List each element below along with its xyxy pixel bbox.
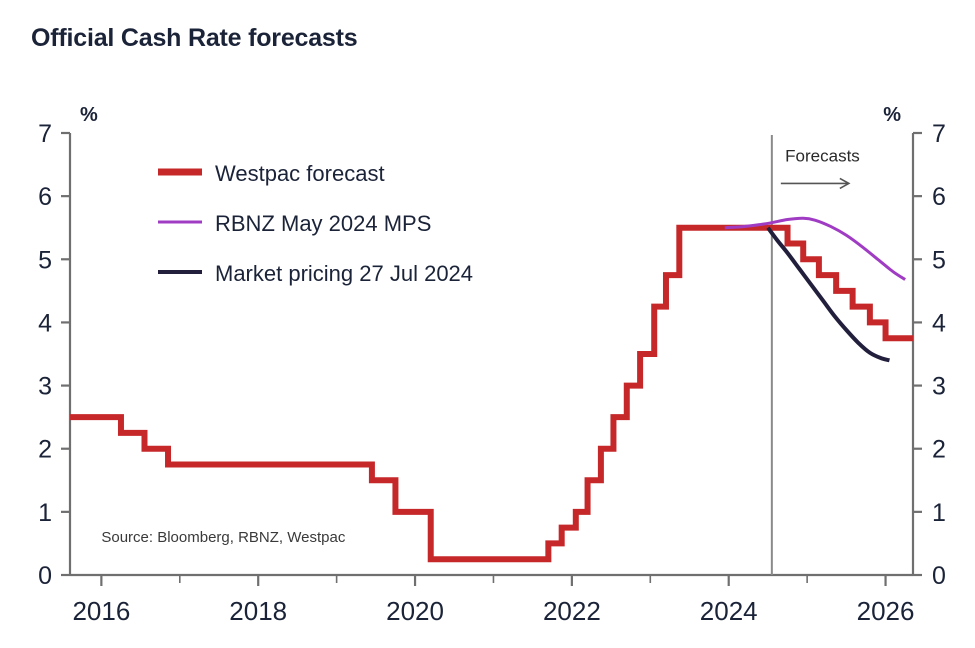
x-tick-label: 2020 <box>386 596 444 626</box>
y-unit-label-left: % <box>80 104 98 126</box>
y-tick-label-left: 6 <box>38 183 52 211</box>
y-tick-label-left: 2 <box>38 436 52 464</box>
series-line-westpac-forecast <box>70 228 913 560</box>
x-tick-label: 2016 <box>72 596 130 626</box>
series-line-market-pricing-27-jul-2024 <box>768 228 890 361</box>
forecast-label: Forecasts <box>785 146 860 165</box>
y-unit-label-right: % <box>883 104 901 126</box>
x-tick-label: 2018 <box>229 596 287 626</box>
y-tick-label-left: 1 <box>38 499 52 527</box>
series-layer <box>70 218 913 559</box>
x-tick-label: 2026 <box>857 596 915 626</box>
chart-plot: 0011223344556677%%2016201820202022202420… <box>0 0 975 648</box>
y-tick-label-right: 7 <box>932 120 946 148</box>
y-tick-label-left: 4 <box>38 309 52 337</box>
y-tick-label-left: 5 <box>38 246 52 274</box>
legend-label-0: Westpac forecast <box>215 161 385 186</box>
y-tick-label-right: 2 <box>932 436 946 464</box>
chart-container: Official Cash Rate forecasts 00112233445… <box>0 0 975 648</box>
legend-label-1: RBNZ May 2024 MPS <box>215 211 431 236</box>
note-layer: Source: Bloomberg, RBNZ, Westpac <box>101 529 345 546</box>
y-tick-label-left: 0 <box>38 562 52 590</box>
y-tick-label-right: 0 <box>932 562 946 590</box>
y-tick-label-right: 1 <box>932 499 946 527</box>
y-tick-label-left: 7 <box>38 120 52 148</box>
y-tick-label-left: 3 <box>38 373 52 401</box>
legend-layer: Westpac forecastRBNZ May 2024 MPSMarket … <box>158 161 473 286</box>
forecast-annotation-layer: Forecasts <box>772 135 860 575</box>
y-tick-label-right: 6 <box>932 183 946 211</box>
x-tick-label: 2024 <box>700 596 758 626</box>
legend-label-2: Market pricing 27 Jul 2024 <box>215 261 473 286</box>
y-tick-label-right: 3 <box>932 373 946 401</box>
y-tick-label-right: 4 <box>932 309 946 337</box>
y-tick-label-right: 5 <box>932 246 946 274</box>
source-note: Source: Bloomberg, RBNZ, Westpac <box>101 529 345 546</box>
x-tick-label: 2022 <box>543 596 601 626</box>
axes-layer: 0011223344556677%%2016201820202022202420… <box>38 104 946 626</box>
